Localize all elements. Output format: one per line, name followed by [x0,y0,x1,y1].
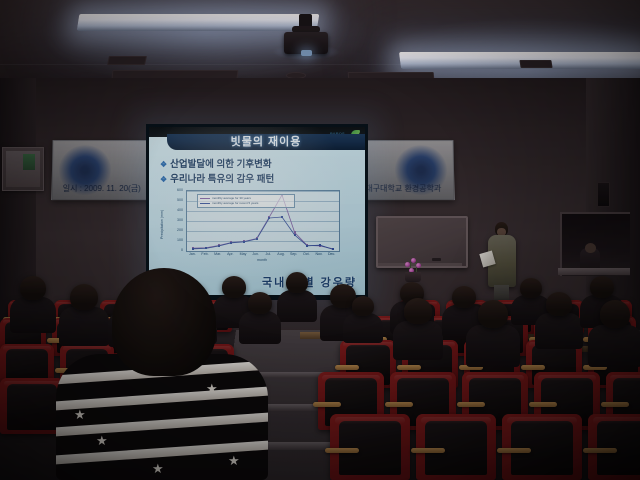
seat-rim [335,417,405,424]
audience-head [590,276,614,298]
chart-y-tick: 0 [168,248,183,252]
jacket-stripe-2 [56,386,268,411]
seat-armrest [457,402,485,407]
audience-shoulders [588,325,640,367]
seat-rim [610,375,640,381]
audience-head [20,276,46,300]
wall-speaker [597,182,610,207]
seat-armrest [529,402,557,407]
orchid-pot [405,272,421,282]
seat-rim [394,375,452,381]
slide-title: 빗물의 재이용 [167,134,365,150]
chart-marker [268,217,270,219]
chart-marker [256,238,258,240]
seat-armrest [313,402,341,407]
auditorium-seat [0,378,64,434]
seat-armrest [325,448,359,453]
rainfall-chart: Precipitation (mm) 0100200300400500600 m… [161,187,353,267]
lecture-hall-photo: 대구대 대구 일시 : 2009. 11. 20(금) 대구대학교 환경공학과 … [0,0,640,480]
ceiling-vent-right [519,60,552,68]
slide-bullet-1-text: 산업발달에 의한 기후변화 [170,159,271,170]
chart-marker [294,234,296,236]
seat-rim [538,375,596,381]
projector-lens [301,50,312,56]
audience-head [286,272,308,293]
chart-series-line [193,217,332,249]
auditorium-seat [416,414,496,480]
alcove-ledge [558,268,630,275]
jacket-stripe-3 [56,412,268,437]
whiteboard [376,216,468,268]
orchid-flower-1 [405,262,410,267]
audience-head [546,292,572,316]
chart-y-tick: 300 [168,218,183,222]
audience-head [600,300,630,328]
auditorium-seat [330,414,410,480]
jacket-star-2: ★ [96,434,108,447]
chart-marker [205,247,207,249]
chart-y-tick: 500 [168,198,183,202]
seat-armrest [601,402,629,407]
seat-rim [421,417,491,424]
audience-head [404,298,432,324]
chart-y-tick: 100 [168,238,183,242]
orchid-flower-2 [411,258,416,263]
seat-rim [507,417,577,424]
audience-head [520,278,542,298]
audience-head-foreground [112,268,216,376]
seat-pad [7,384,57,430]
chart-y-axis-label: Precipitation (mm) [160,195,169,253]
auditorium-seat [502,414,582,480]
slide-bullet-1: ❖산업발달에 의한 기후변화 [160,156,272,170]
chart-y-tick: 600 [168,188,183,192]
chart-marker [243,241,245,243]
chart-marker [281,216,283,218]
audience-head [352,296,374,316]
legend-label: monthly average for 30 years [212,196,251,200]
slide-title-bar: 빗물의 재이용 [167,134,365,150]
slide-bullet-2-text: 우리나라 특유의 감우 패턴 [170,174,274,185]
booth-person-head [585,243,596,253]
chart-marker [192,248,194,250]
whiteboard-marker [432,258,441,261]
audience-shoulders [277,290,317,322]
jacket-star-3: ★ [206,382,218,395]
audience-shoulders [466,325,520,367]
banner-date: 일시 : 2009. 11. 20(금) [63,183,141,194]
bullet-diamond-icon: ❖ [160,160,167,169]
chart-x-tick: Dec. [325,252,339,257]
seat-rim [4,381,60,387]
chart-y-tick: 200 [168,228,183,232]
seat-rim [466,375,524,381]
chart-marker [230,242,232,244]
chart-x-axis-label: month [186,258,338,262]
seat-rim [343,342,392,347]
seat-armrest [397,365,421,370]
audience-head [452,286,476,308]
audience-member-foreground: ★ ★ ★ ★ ★ [60,268,260,480]
chart-marker [218,245,220,247]
audience-shoulders [535,313,583,349]
jacket-star-1: ★ [74,408,86,421]
audience-shoulders [10,297,56,333]
slide-bullet-2: ❖우리나라 특유의 감우 패턴 [160,171,274,185]
legend-label: monthly average for recent 5 years [212,201,258,205]
seat-armrest [335,365,359,370]
fluorescent-light-left [77,14,320,31]
audience-shoulders [393,321,443,360]
seat-rim [593,417,640,424]
jacket-star-5: ★ [152,462,164,475]
chart-marker [306,245,308,247]
jacket-star-4: ★ [228,454,240,467]
bullet-diamond-icon-2: ❖ [160,175,167,184]
audience-shoulders [343,313,383,343]
wall-poster [2,147,44,191]
seat-armrest [497,448,531,453]
chart-plot-area: monthly average for 30 yearsmonthly aver… [186,190,340,252]
presenter [487,222,517,306]
seat-armrest [521,365,545,370]
seat-armrest [411,448,445,453]
banner-organization: 대구대학교 환경공학과 [365,183,441,194]
auditorium-seat [588,414,640,480]
chart-legend: monthly average for 30 yearsmonthly aver… [197,194,295,208]
chart-marker [332,248,334,250]
orchid-flower-3 [416,263,421,268]
audience-head [478,300,508,328]
poster-graphic [23,154,35,170]
seat-armrest [385,402,413,407]
chart-y-tick: 400 [168,208,183,212]
ceiling-vent-left [107,56,147,65]
seat-armrest [583,448,617,453]
legend-swatch [200,198,210,199]
chart-marker [319,244,321,246]
legend-swatch [200,203,210,204]
seat-rim [322,375,380,381]
seat-rim [3,346,51,351]
